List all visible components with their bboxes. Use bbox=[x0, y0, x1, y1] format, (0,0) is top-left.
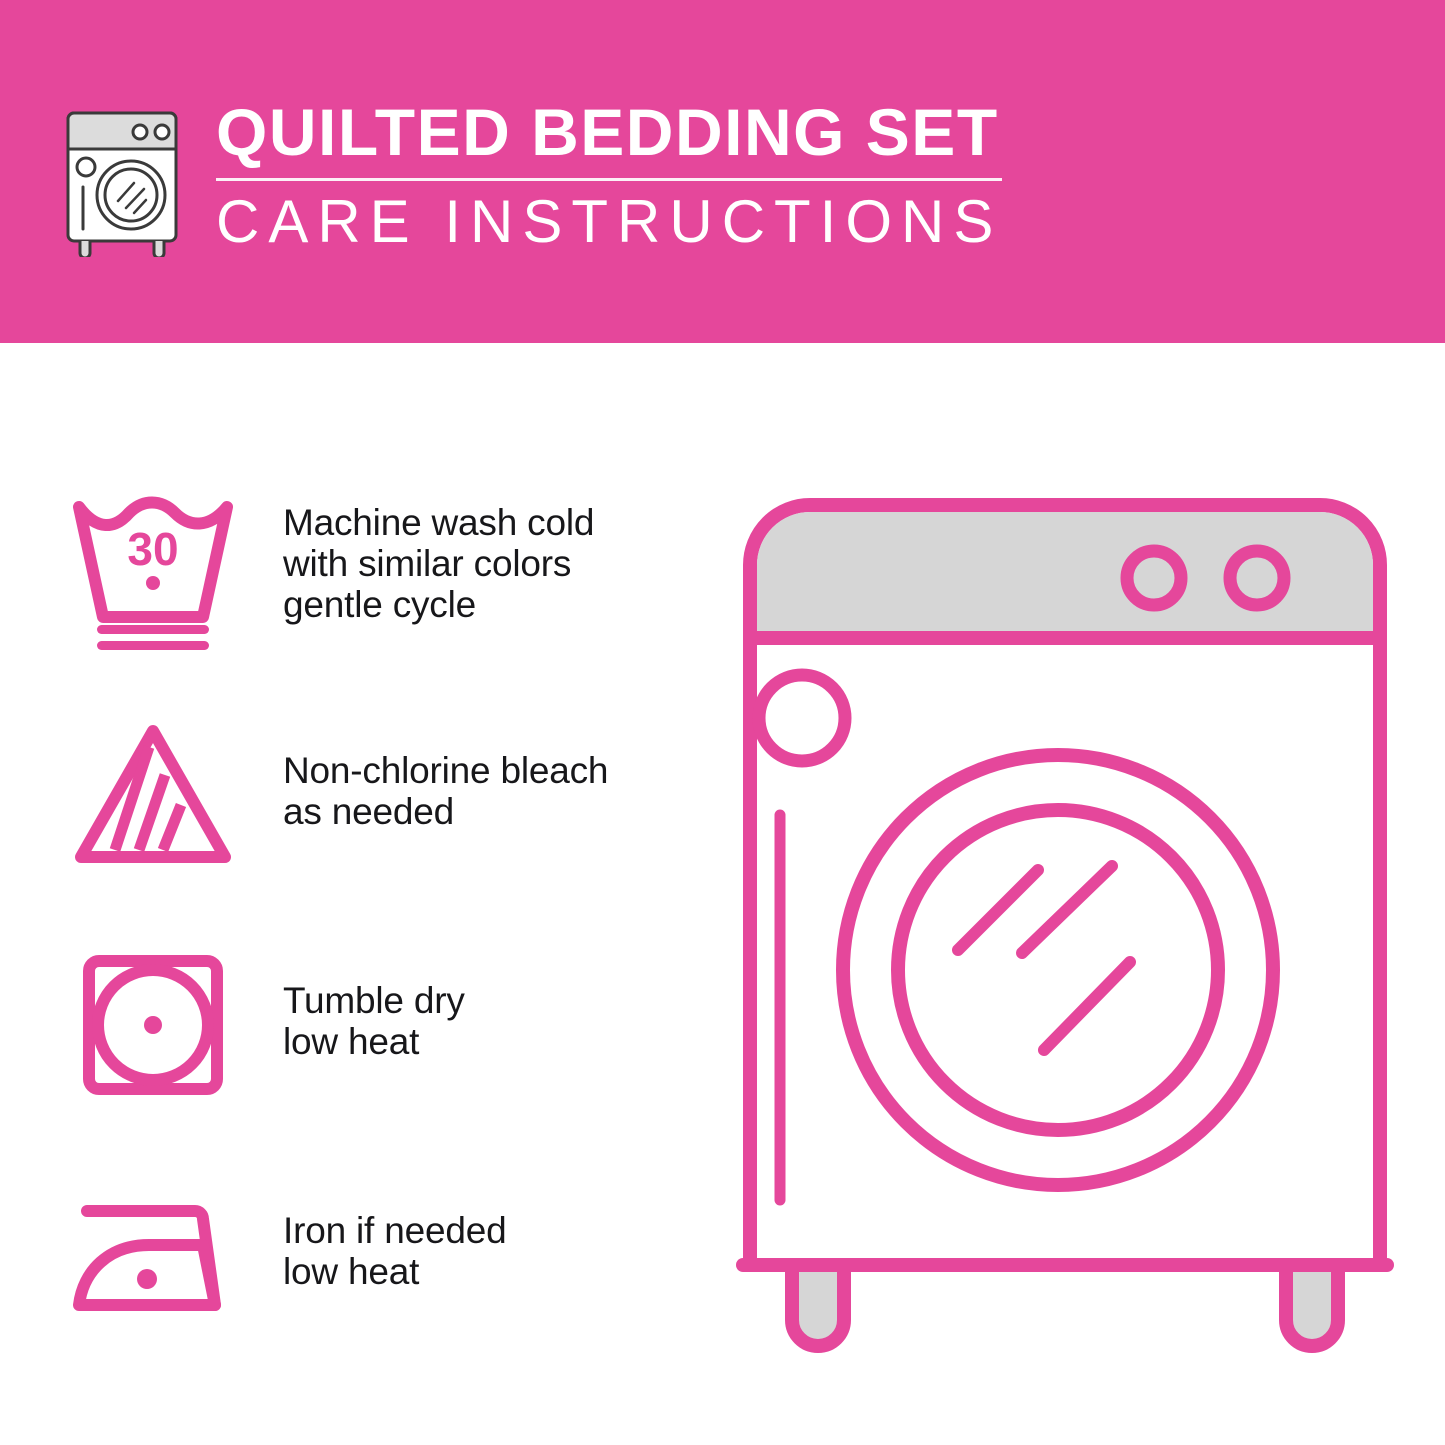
care-line: Non-chlorine bleach bbox=[283, 750, 608, 791]
care-line: Machine wash cold bbox=[283, 502, 594, 543]
care-line: Iron if needed bbox=[283, 1210, 506, 1251]
wash-tub-30-gentle-icon: 30 bbox=[60, 480, 245, 655]
care-line: low heat bbox=[283, 1021, 465, 1062]
page-subtitle: CARE INSTRUCTIONS bbox=[216, 189, 1002, 255]
care-row-tumble-dry: Tumble dry low heat bbox=[60, 940, 700, 1170]
care-line: low heat bbox=[283, 1251, 506, 1292]
care-text-iron: Iron if needed low heat bbox=[283, 1170, 506, 1292]
tumble-dry-low-icon bbox=[60, 940, 245, 1115]
care-line: with similar colors bbox=[283, 543, 594, 584]
care-row-iron: Iron if needed low heat bbox=[60, 1170, 700, 1400]
care-line: Tumble dry bbox=[283, 980, 465, 1021]
washing-machine-illustration bbox=[720, 470, 1410, 1380]
leg-right bbox=[1286, 1265, 1338, 1346]
page-title: QUILTED BEDDING SET bbox=[216, 95, 1002, 169]
header-banner: QUILTED BEDDING SET CARE INSTRUCTIONS bbox=[0, 0, 1445, 343]
header-content: QUILTED BEDDING SET CARE INSTRUCTIONS bbox=[58, 95, 1002, 257]
leg-left bbox=[792, 1265, 844, 1346]
non-chlorine-bleach-triangle-icon bbox=[60, 710, 245, 885]
title-divider bbox=[216, 178, 1002, 181]
care-line: gentle cycle bbox=[283, 584, 594, 625]
care-row-machine-wash: 30 Machine wash cold with similar colors… bbox=[60, 480, 700, 710]
care-instruction-list: 30 Machine wash cold with similar colors… bbox=[60, 480, 700, 1400]
care-text-tumble-dry: Tumble dry low heat bbox=[283, 940, 465, 1062]
care-row-bleach: Non-chlorine bleach as needed bbox=[60, 710, 700, 940]
care-line: as needed bbox=[283, 791, 608, 832]
care-text-bleach: Non-chlorine bleach as needed bbox=[283, 710, 608, 832]
care-text-machine-wash: Machine wash cold with similar colors ge… bbox=[283, 480, 594, 625]
care-instructions-infographic: QUILTED BEDDING SET CARE INSTRUCTIONS 30 bbox=[0, 0, 1445, 1445]
wash-temperature-value: 30 bbox=[127, 523, 178, 575]
iron-low-heat-icon bbox=[60, 1170, 245, 1345]
header-title-block: QUILTED BEDDING SET CARE INSTRUCTIONS bbox=[216, 95, 1002, 255]
washing-machine-icon bbox=[58, 105, 186, 257]
